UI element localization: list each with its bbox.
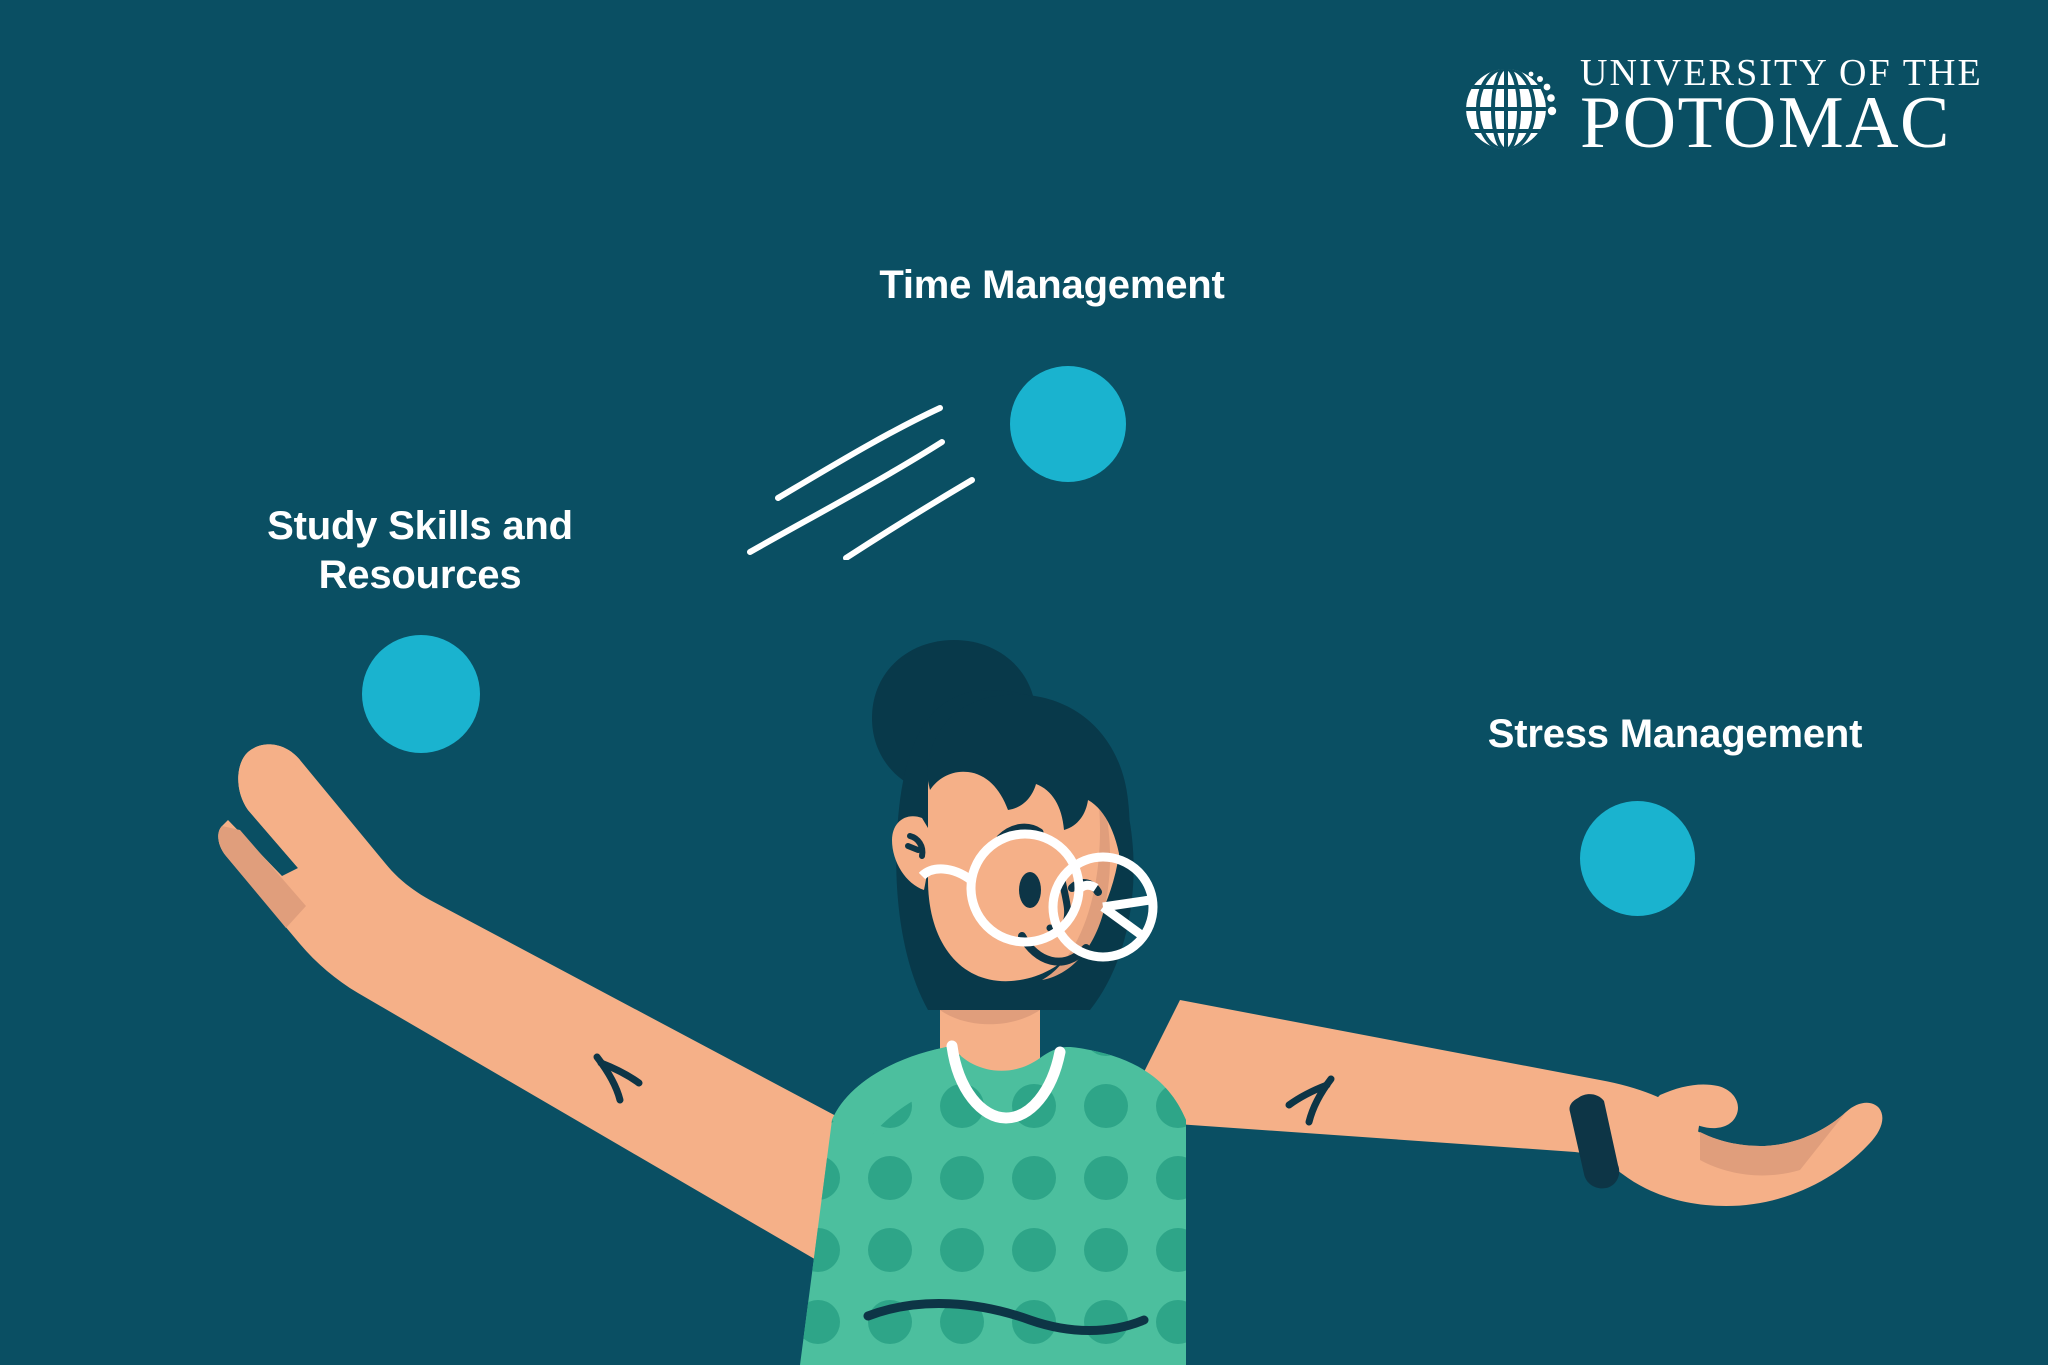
logo-wordmark: UNIVERSITY OF THE POTOMAC (1580, 54, 1983, 160)
stress-management-ball (1580, 801, 1695, 916)
left-arm-group (218, 744, 900, 1268)
motion-line-1 (778, 408, 940, 498)
eye-left (1019, 872, 1041, 908)
motion-line-3 (846, 480, 972, 558)
university-logo: UNIVERSITY OF THE POTOMAC (1462, 52, 2002, 162)
glasses-bridge (1078, 885, 1096, 890)
label-time-management: Time Management (842, 261, 1262, 310)
student-juggling-illustration (0, 0, 2048, 1365)
globe-icon (1462, 57, 1562, 157)
torso-group (800, 1040, 1200, 1365)
right-arm-group (1120, 1000, 1882, 1206)
left-arm (218, 744, 900, 1268)
head-group (872, 640, 1153, 1010)
motion-lines-group (740, 370, 1040, 560)
illustration-canvas: Time Management Study Skills and Resourc… (0, 0, 2048, 1365)
label-study-skills-and-resources: Study Skills and Resources (240, 502, 600, 600)
logo-line-potomac: POTOMAC (1580, 86, 1983, 160)
label-stress-management: Stress Management (1440, 710, 1910, 759)
study-skills-ball (362, 635, 480, 753)
time-management-ball (1010, 366, 1126, 482)
